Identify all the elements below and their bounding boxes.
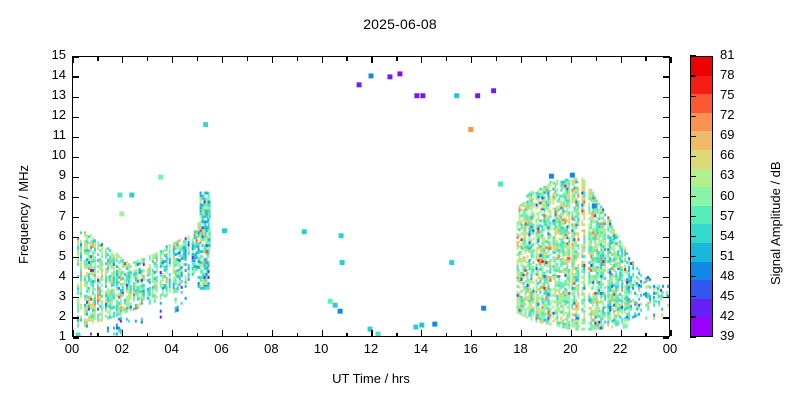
x-tick-label: 00 (650, 341, 690, 356)
colorbar-tick-label: 72 (720, 107, 734, 122)
x-tick-label: 02 (102, 341, 142, 356)
x-tick-minor (596, 333, 597, 337)
scatter-canvas (73, 57, 669, 336)
colorbar-band (691, 94, 712, 113)
colorbar-tick (690, 116, 696, 117)
x-tick (72, 330, 73, 336)
x-tick-minor (496, 57, 497, 61)
colorbar-tick (690, 336, 696, 337)
y-tick (73, 197, 79, 198)
y-tick-label: 15 (28, 47, 66, 62)
x-tick-minor (645, 333, 646, 337)
x-axis-title: UT Time / hrs (0, 371, 742, 386)
colorbar-tick-label: 39 (720, 328, 734, 343)
x-tick-minor (97, 57, 98, 61)
colorbar-band (691, 243, 712, 262)
x-tick-minor (446, 57, 447, 61)
y-tick-label: 11 (28, 127, 66, 142)
colorbar-tick-label: 57 (720, 208, 734, 223)
colorbar-band (691, 169, 712, 188)
x-tick-minor (346, 57, 347, 61)
x-tick (122, 57, 123, 63)
y-tick (73, 237, 79, 238)
colorbar-tick (690, 75, 696, 76)
colorbar-tick-label: 60 (720, 188, 734, 203)
x-tick (222, 330, 223, 336)
y-tick-label: 12 (28, 107, 66, 122)
x-tick-minor (97, 333, 98, 337)
y-axis-title: Frequency / MHz (16, 165, 31, 264)
colorbar-tick (690, 136, 696, 137)
x-tick-minor (546, 333, 547, 337)
x-tick-minor (645, 57, 646, 61)
x-tick-minor (147, 57, 148, 61)
y-tick (663, 117, 669, 118)
x-tick-minor (396, 57, 397, 61)
y-tick (663, 137, 669, 138)
y-tick (663, 76, 669, 77)
x-tick-minor (147, 333, 148, 337)
y-tick-label: 14 (28, 67, 66, 82)
colorbar-tick-label: 63 (720, 167, 734, 182)
y-tick (73, 137, 79, 138)
x-tick (72, 57, 73, 63)
y-tick (73, 277, 79, 278)
y-tick (73, 56, 79, 57)
y-tick-label: 8 (28, 188, 66, 203)
plot-area (72, 56, 670, 337)
x-tick-minor (247, 57, 248, 61)
colorbar-band (691, 131, 712, 150)
y-tick (663, 317, 669, 318)
y-tick-label: 6 (28, 228, 66, 243)
y-tick (663, 277, 669, 278)
colorbar-tick-label: 81 (720, 47, 734, 62)
x-tick-minor (396, 333, 397, 337)
y-tick (663, 56, 669, 57)
y-tick-label: 10 (28, 147, 66, 162)
x-tick (670, 330, 671, 336)
colorbar-tick (690, 55, 696, 56)
x-tick (122, 330, 123, 336)
y-tick (663, 97, 669, 98)
colorbar-band (691, 150, 712, 169)
x-tick (571, 330, 572, 336)
y-tick (73, 76, 79, 77)
y-tick-label: 5 (28, 248, 66, 263)
colorbar-tick-label: 42 (720, 308, 734, 323)
x-tick (322, 330, 323, 336)
x-tick-minor (446, 333, 447, 337)
colorbar-tick (690, 256, 696, 257)
y-tick (663, 297, 669, 298)
x-tick (322, 57, 323, 63)
x-tick-minor (496, 333, 497, 337)
y-tick (663, 337, 669, 338)
y-tick (73, 157, 79, 158)
x-tick-label: 06 (202, 341, 242, 356)
colorbar-tick (690, 236, 696, 237)
x-tick (172, 330, 173, 336)
colorbar-band (691, 76, 712, 95)
y-tick-label: 9 (28, 167, 66, 182)
y-tick-label: 4 (28, 268, 66, 283)
x-tick (521, 330, 522, 336)
y-tick-label: 2 (28, 308, 66, 323)
y-tick (663, 157, 669, 158)
colorbar-tick-label: 69 (720, 127, 734, 142)
x-tick-label: 12 (351, 341, 391, 356)
colorbar-title: Signal Amplitude / dB (768, 161, 783, 285)
colorbar-band (691, 317, 712, 336)
y-tick (663, 257, 669, 258)
y-tick (73, 177, 79, 178)
x-tick (571, 57, 572, 63)
x-tick-minor (297, 333, 298, 337)
colorbar-band (691, 57, 712, 76)
y-tick (73, 317, 79, 318)
x-tick-minor (197, 57, 198, 61)
colorbar-tick (690, 316, 696, 317)
y-tick-label: 1 (28, 328, 66, 343)
colorbar-tick (690, 276, 696, 277)
colorbar-band (691, 224, 712, 243)
x-tick (272, 57, 273, 63)
y-tick-label: 13 (28, 87, 66, 102)
x-tick (172, 57, 173, 63)
y-tick-label: 3 (28, 288, 66, 303)
x-tick (272, 330, 273, 336)
colorbar-tick (690, 196, 696, 197)
colorbar-tick-label: 66 (720, 147, 734, 162)
y-tick (73, 217, 79, 218)
y-tick (73, 97, 79, 98)
y-tick (73, 297, 79, 298)
colorbar-tick (690, 296, 696, 297)
x-tick-label: 00 (52, 341, 92, 356)
x-tick-minor (596, 57, 597, 61)
x-tick-label: 04 (152, 341, 192, 356)
x-tick-label: 14 (401, 341, 441, 356)
x-tick-label: 22 (600, 341, 640, 356)
x-tick (421, 57, 422, 63)
colorbar-tick (690, 96, 696, 97)
y-tick (73, 117, 79, 118)
x-tick (371, 330, 372, 336)
y-tick (663, 197, 669, 198)
x-tick (621, 57, 622, 63)
x-tick (471, 57, 472, 63)
colorbar-tick (690, 156, 696, 157)
colorbar-tick-label: 54 (720, 228, 734, 243)
colorbar-tick (690, 216, 696, 217)
colorbar-tick-label: 78 (720, 67, 734, 82)
y-tick-label: 7 (28, 208, 66, 223)
x-tick-minor (546, 57, 547, 61)
colorbar-band (691, 299, 712, 318)
x-tick-label: 10 (301, 341, 341, 356)
x-tick-label: 16 (451, 341, 491, 356)
x-tick-label: 18 (501, 341, 541, 356)
x-tick (670, 57, 671, 63)
x-tick (222, 57, 223, 63)
colorbar-tick-label: 51 (720, 248, 734, 263)
colorbar-tick-label: 45 (720, 288, 734, 303)
y-tick (73, 337, 79, 338)
chart-title: 2025-06-08 (0, 16, 800, 32)
x-tick (471, 330, 472, 336)
y-tick (663, 237, 669, 238)
x-tick (621, 330, 622, 336)
x-tick (371, 57, 372, 63)
x-tick-minor (346, 333, 347, 337)
x-tick-label: 08 (251, 341, 291, 356)
x-tick-minor (197, 333, 198, 337)
x-tick (421, 330, 422, 336)
x-tick-minor (297, 57, 298, 61)
colorbar-tick-label: 48 (720, 268, 734, 283)
y-tick (663, 217, 669, 218)
x-tick (521, 57, 522, 63)
x-tick-label: 20 (550, 341, 590, 356)
colorbar-tick-label: 75 (720, 87, 734, 102)
y-tick (73, 257, 79, 258)
colorbar-tick (690, 176, 696, 177)
x-tick-minor (247, 333, 248, 337)
y-tick (663, 177, 669, 178)
